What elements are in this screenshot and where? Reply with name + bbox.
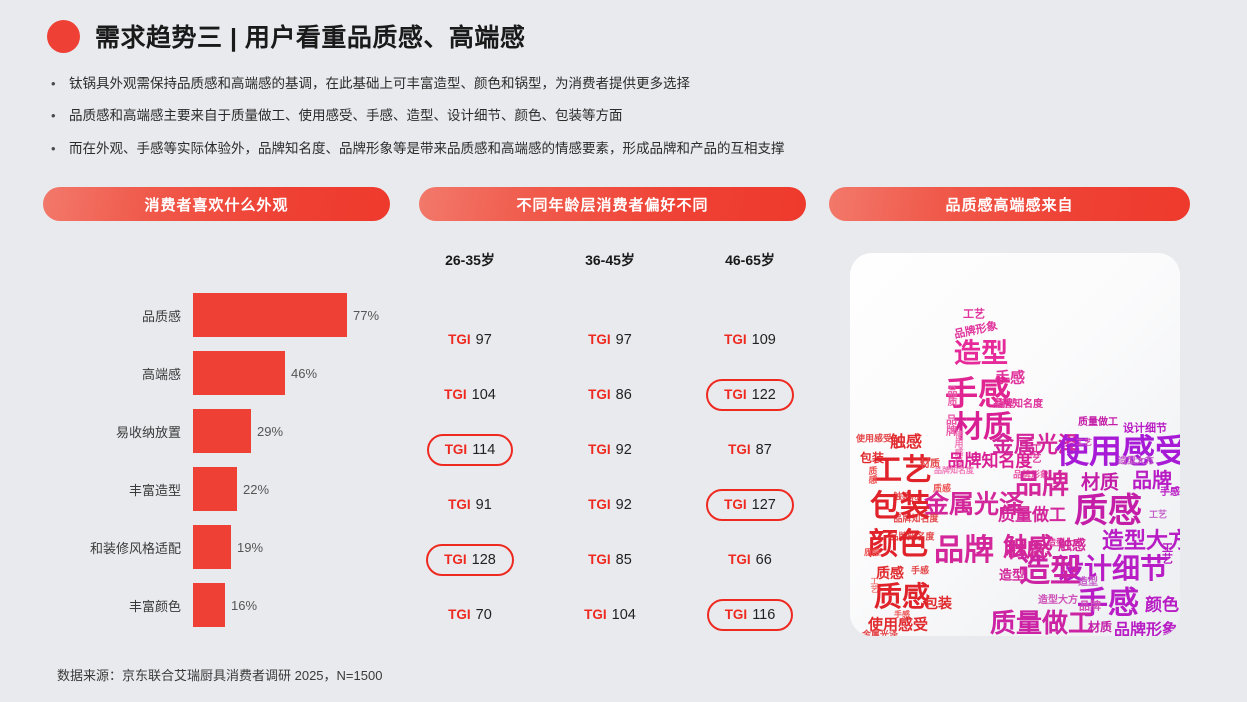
wordcloud-term: 质量做工 <box>998 507 1066 524</box>
wordcloud-term: 材质 <box>920 460 940 470</box>
tgi-value: TGI104 <box>572 599 648 631</box>
tgi-cell: TGI66 <box>680 544 820 576</box>
bar-row: 易收纳放置29% <box>43 406 393 456</box>
tgi-value-highlighted: TGI116 <box>707 599 794 631</box>
tgi-value: TGI91 <box>436 489 504 521</box>
wordcloud-term: 造型 <box>999 569 1025 582</box>
tgi-value: TGI97 <box>436 324 504 356</box>
bullet-text: 品质感和高端感主要来自于质量做工、使用感受、手感、造型、设计细节、颜色、包装等方… <box>69 106 623 126</box>
page-title-row: 需求趋势三 | 用户看重品质感、高端感 <box>47 18 525 54</box>
tgi-cell: TGI86 <box>540 379 680 411</box>
tgi-tag: TGI <box>588 332 611 347</box>
wordcloud-term: 造型大方 <box>1038 596 1078 606</box>
bar-value-label: 29% <box>251 424 283 439</box>
bar-category-label: 丰富颜色 <box>43 596 193 615</box>
tgi-number: 116 <box>752 607 775 623</box>
tgi-number: 92 <box>616 497 632 513</box>
tgi-column-header-0: 26-35岁 <box>400 250 540 270</box>
wordcloud-term: 质量做工 <box>1078 418 1118 428</box>
tgi-value: TGI70 <box>436 599 504 631</box>
bar-track: 77% <box>193 293 393 337</box>
list-item: • 钛锅具外观需保持品质感和高端感的基调，在此基础上可丰富造型、颜色和锅型，为消… <box>47 74 1207 94</box>
bar-fill <box>193 583 225 627</box>
wordcloud-term: 品牌知名度 <box>993 400 1043 410</box>
bar-track: 19% <box>193 525 393 569</box>
bullet-text: 而在外观、手感等实际体验外，品牌知名度、品牌形象等是带来品质感和高端感的情感要素… <box>69 139 785 159</box>
wordcloud-term: 造型 <box>1019 556 1081 587</box>
data-source-note: 数据来源：京东联合艾瑞厨具消费者调研 2025，N=1500 <box>57 665 382 684</box>
tgi-tag: TGI <box>724 332 747 347</box>
bar-category-label: 品质感 <box>43 306 193 325</box>
tgi-tag: TGI <box>448 332 471 347</box>
bar-value-label: 16% <box>225 598 257 613</box>
panel-header-appearance: 消费者喜欢什么外观 <box>43 187 390 221</box>
bar-row: 高端感46% <box>43 348 393 398</box>
tgi-tag: TGI <box>724 387 747 402</box>
bar-row: 丰富颜色16% <box>43 580 393 630</box>
wordcloud-term: 造型大方 <box>1118 457 1154 466</box>
wordcloud-term: 工艺 <box>1161 542 1172 564</box>
tgi-value: TGI97 <box>576 324 644 356</box>
wordcloud-term: 颜色 <box>1145 597 1179 614</box>
bar-value-label: 77% <box>347 308 379 323</box>
tgi-tag: TGI <box>588 442 611 457</box>
tgi-tag: TGI <box>448 607 471 622</box>
bar-category-label: 丰富造型 <box>43 480 193 499</box>
tgi-cell: TGI114 <box>400 434 540 466</box>
tgi-value-highlighted: TGI122 <box>706 379 794 411</box>
table-row: TGI114TGI92TGI87 <box>400 422 820 477</box>
tgi-cell: TGI92 <box>540 434 680 466</box>
table-row: TGI91TGI92TGI127 <box>400 477 820 532</box>
tgi-tag: TGI <box>445 442 468 457</box>
tgi-column-header-1: 36-45岁 <box>540 250 680 270</box>
tgi-cell: TGI92 <box>540 489 680 521</box>
tgi-tag: TGI <box>724 497 747 512</box>
bar-track: 16% <box>193 583 393 627</box>
tgi-cell: TGI85 <box>540 544 680 576</box>
wordcloud-term: 手感 <box>1160 488 1180 498</box>
tgi-number: 97 <box>476 332 492 348</box>
bar-category-label: 易收纳放置 <box>43 422 193 441</box>
tgi-cell: TGI116 <box>680 599 820 631</box>
wordcloud-term: 品牌 <box>1015 472 1069 499</box>
tgi-value: TGI92 <box>576 489 644 521</box>
wordcloud-term: 质感 <box>874 583 930 611</box>
wordcloud-term: 金属光泽 <box>862 631 898 637</box>
tgi-cell: TGI109 <box>680 324 820 356</box>
tgi-tag: TGI <box>588 387 611 402</box>
tgi-value: TGI104 <box>432 379 508 411</box>
tgi-column-headers: 26-35岁36-45岁46-65岁 <box>400 250 820 270</box>
wordcloud-term: 使用感受 <box>856 435 892 444</box>
tgi-cell: TGI97 <box>400 324 540 356</box>
tgi-number: 86 <box>616 387 632 403</box>
bar-fill <box>193 293 347 337</box>
wordcloud-term: 品牌 <box>934 536 994 566</box>
table-row: TGI70TGI104TGI116 <box>400 587 820 642</box>
tgi-cell: TGI127 <box>680 489 820 521</box>
tgi-tag: TGI <box>725 607 748 622</box>
tgi-number: 66 <box>756 552 772 568</box>
list-item: • 而在外观、手感等实际体验外，品牌知名度、品牌形象等是带来品质感和高端感的情感… <box>47 139 1207 159</box>
wordcloud-term: 材质 <box>1088 621 1112 633</box>
wordcloud-term: 触感 <box>1058 538 1086 552</box>
wordcloud-thumbs-up-icon: 工艺品牌形象造型手感手感品质造型材质品牌使用感受品牌知名度工艺品牌知名度品牌形象… <box>850 253 1180 636</box>
bullet-text: 钛锅具外观需保持品质感和高端感的基调，在此基础上可丰富造型、颜色和锅型，为消费者… <box>69 74 690 94</box>
bullet-list: • 钛锅具外观需保持品质感和高端感的基调，在此基础上可丰富造型、颜色和锅型，为消… <box>47 74 1207 171</box>
tgi-number: 85 <box>616 552 632 568</box>
bullet-marker-icon: • <box>47 74 69 94</box>
bar-fill <box>193 525 231 569</box>
tgi-cell: TGI104 <box>540 599 680 631</box>
tgi-value-highlighted: TGI127 <box>706 489 794 521</box>
tgi-value: TGI109 <box>712 324 788 356</box>
wordcloud-term: 品牌形象 <box>1114 623 1178 636</box>
tgi-tag: TGI <box>448 497 471 512</box>
tgi-tag: TGI <box>444 387 467 402</box>
tgi-value-highlighted: TGI128 <box>426 544 514 576</box>
tgi-table: 26-35岁36-45岁46-65岁 TGI97TGI97TGI109TGI10… <box>400 250 820 642</box>
tgi-tag: TGI <box>728 552 751 567</box>
tgi-value: TGI86 <box>576 379 644 411</box>
tgi-value: TGI85 <box>576 544 644 576</box>
bar-fill <box>193 467 237 511</box>
wordcloud-term: 工艺 <box>963 310 985 321</box>
tgi-number: 128 <box>472 552 496 568</box>
wordcloud-term: 品牌 <box>1079 602 1101 613</box>
tgi-tag: TGI <box>588 552 611 567</box>
bar-category-label: 和装修风格适配 <box>43 538 193 557</box>
wordcloud-term: 工艺 <box>1076 439 1092 447</box>
bullet-marker-icon: • <box>47 139 69 159</box>
tgi-value: TGI87 <box>716 434 784 466</box>
panel-header-wordcloud: 品质感高端感来自 <box>829 187 1190 221</box>
bar-track: 46% <box>193 351 393 395</box>
appearance-bar-chart: 品质感77%高端感46%易收纳放置29%丰富造型22%和装修风格适配19%丰富颜… <box>43 290 393 638</box>
tgi-number: 104 <box>612 607 636 623</box>
bar-fill <box>193 409 251 453</box>
tgi-number: 97 <box>616 332 632 348</box>
tgi-cell: TGI128 <box>400 544 540 576</box>
wordcloud-term: 造型 <box>954 341 1008 368</box>
tgi-cell: TGI104 <box>400 379 540 411</box>
tgi-cell: TGI91 <box>400 489 540 521</box>
wordcloud-term: 包装 <box>924 596 952 610</box>
bar-fill <box>193 351 285 395</box>
tgi-tag: TGI <box>728 442 751 457</box>
tgi-value: TGI92 <box>576 434 644 466</box>
tgi-number: 109 <box>752 332 776 348</box>
bar-track: 29% <box>193 409 393 453</box>
wordcloud-card: 工艺品牌形象造型手感手感品质造型材质品牌使用感受品牌知名度工艺品牌知名度品牌形象… <box>850 253 1180 636</box>
tgi-number: 114 <box>472 442 495 458</box>
bullet-marker-icon: • <box>47 106 69 126</box>
table-row: TGI128TGI85TGI66 <box>400 532 820 587</box>
tgi-number: 104 <box>472 387 496 403</box>
bar-category-label: 高端感 <box>43 364 193 383</box>
wordcloud-term: 质感 <box>868 466 877 484</box>
tgi-number: 87 <box>756 442 772 458</box>
wordcloud-term: 触感 <box>890 435 922 451</box>
tgi-number: 122 <box>752 387 776 403</box>
bar-value-label: 46% <box>285 366 317 381</box>
wordcloud-term: 材质 <box>1081 474 1119 493</box>
panel-header-age-preference: 不同年龄层消费者偏好不同 <box>419 187 806 221</box>
tgi-number: 91 <box>476 497 492 513</box>
bar-row: 丰富造型22% <box>43 464 393 514</box>
tgi-value-highlighted: TGI114 <box>427 434 514 466</box>
tgi-tag: TGI <box>584 607 607 622</box>
wordcloud-term: 手感 <box>911 567 929 576</box>
tgi-tag: TGI <box>588 497 611 512</box>
tgi-column-header-2: 46-65岁 <box>680 250 820 270</box>
tgi-tag: TGI <box>444 552 467 567</box>
wordcloud-term: 质量做工 <box>990 610 1094 636</box>
wordcloud-term: 质感 <box>1074 494 1142 528</box>
bar-row: 和装修风格适配19% <box>43 522 393 572</box>
wordcloud-term: 品牌知名度 <box>934 467 974 475</box>
tgi-cell: TGI70 <box>400 599 540 631</box>
table-row: TGI97TGI97TGI109 <box>400 312 820 367</box>
wordcloud-term: 质感 <box>864 549 880 557</box>
tgi-number: 92 <box>616 442 632 458</box>
wordcloud-term: 品质 <box>945 386 955 406</box>
bar-row: 品质感77% <box>43 290 393 340</box>
list-item: • 品质感和高端感主要来自于质量做工、使用感受、手感、造型、设计细节、颜色、包装… <box>47 106 1207 126</box>
tgi-number: 70 <box>476 607 492 623</box>
tgi-cell: TGI87 <box>680 434 820 466</box>
red-circle-bullet-icon <box>47 20 80 53</box>
bar-track: 22% <box>193 467 393 511</box>
bar-value-label: 22% <box>237 482 269 497</box>
tgi-value: TGI66 <box>716 544 784 576</box>
tgi-number: 127 <box>752 497 776 513</box>
wordcloud-term: 包装 <box>870 492 930 522</box>
tgi-cell: TGI122 <box>680 379 820 411</box>
tgi-body: TGI97TGI97TGI109TGI104TGI86TGI122TGI114T… <box>400 312 820 642</box>
page-title: 需求趋势三 | 用户看重品质感、高端感 <box>95 18 525 54</box>
wordcloud-term: 质感 <box>876 566 904 580</box>
table-row: TGI104TGI86TGI122 <box>400 367 820 422</box>
tgi-cell: TGI97 <box>540 324 680 356</box>
bar-value-label: 19% <box>231 540 263 555</box>
wordcloud-term: 工艺 <box>1149 511 1167 520</box>
